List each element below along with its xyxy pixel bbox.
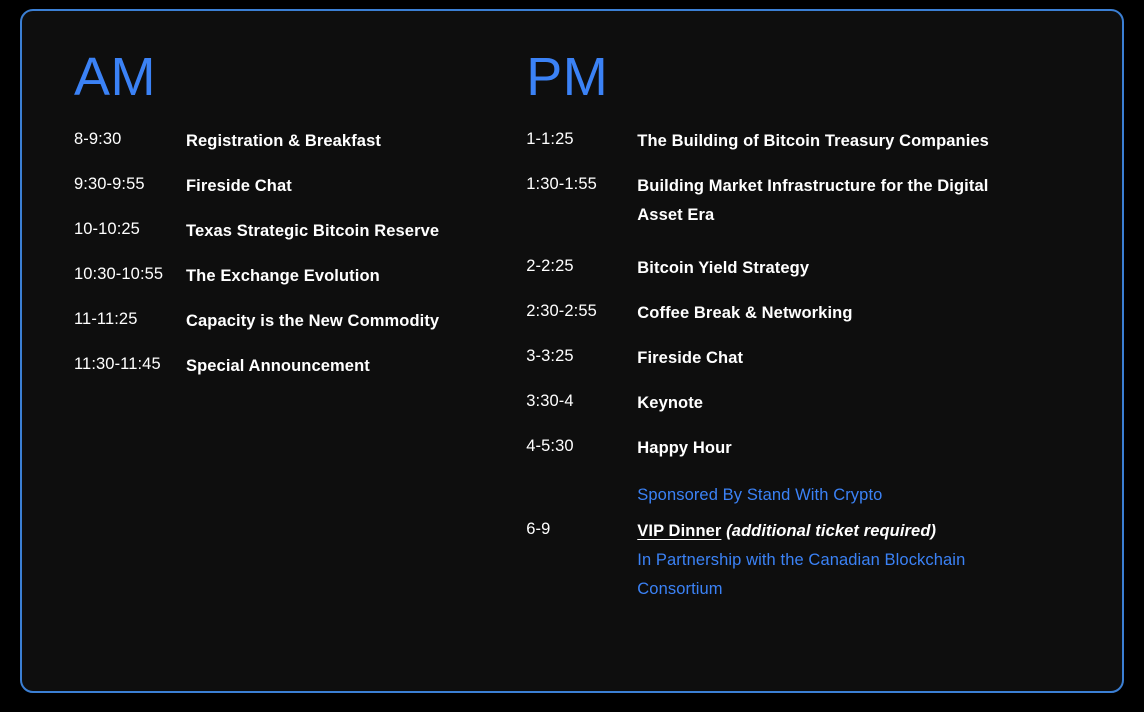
- session-time: 4-5:30: [526, 434, 637, 458]
- session-time: 1-1:25: [526, 127, 637, 151]
- session-time: 2-2:25: [526, 254, 637, 278]
- schedule-row: 8-9:30 Registration & Breakfast: [74, 127, 523, 156]
- schedule-row: 9:30-9:55 Fireside Chat: [74, 172, 523, 201]
- pm-schedule-list: 1-1:25 The Building of Bitcoin Treasury …: [526, 127, 1122, 604]
- session-title: Fireside Chat: [186, 172, 516, 201]
- session-title: Special Announcement: [186, 352, 516, 381]
- am-column: AM 8-9:30 Registration & Breakfast 9:30-…: [22, 11, 523, 691]
- session-title: The Building of Bitcoin Treasury Compani…: [637, 127, 1027, 156]
- session-time: 9:30-9:55: [74, 172, 186, 196]
- vip-dinner-qualifier: (additional ticket required): [726, 522, 936, 540]
- schedule-row: 4-5:30 Happy Hour: [526, 434, 1122, 463]
- session-time: 10-10:25: [74, 217, 186, 241]
- vip-dinner-label: VIP Dinner: [637, 522, 721, 540]
- agenda-columns: AM 8-9:30 Registration & Breakfast 9:30-…: [22, 11, 1122, 691]
- pm-column-header: PM: [526, 48, 1122, 110]
- session-time: 11-11:25: [74, 307, 186, 331]
- session-title: Texas Strategic Bitcoin Reserve: [186, 217, 516, 246]
- schedule-row: 2:30-2:55 Coffee Break & Networking: [526, 299, 1122, 328]
- vip-dinner-details: VIP Dinner (additional ticket required) …: [637, 517, 1027, 604]
- am-column-header: AM: [74, 48, 523, 110]
- vip-dinner-partner-note: In Partnership with the Canadian Blockch…: [637, 546, 1027, 604]
- schedule-row: 11-11:25 Capacity is the New Commodity: [74, 307, 523, 336]
- schedule-row: 3-3:25 Fireside Chat: [526, 344, 1122, 373]
- session-title: Bitcoin Yield Strategy: [637, 254, 1027, 283]
- session-time: 6-9: [526, 517, 637, 541]
- schedule-row: 3:30-4 Keynote: [526, 389, 1122, 418]
- schedule-row: 1:30-1:55 Building Market Infrastructure…: [526, 172, 1122, 230]
- schedule-row: 2-2:25 Bitcoin Yield Strategy: [526, 254, 1122, 283]
- session-title: Keynote: [637, 389, 1027, 418]
- session-title: Capacity is the New Commodity: [186, 307, 516, 336]
- schedule-row: 10:30-10:55 The Exchange Evolution: [74, 262, 523, 291]
- pm-column: PM 1-1:25 The Building of Bitcoin Treasu…: [523, 11, 1122, 691]
- schedule-row: 10-10:25 Texas Strategic Bitcoin Reserve: [74, 217, 523, 246]
- session-title: Coffee Break & Networking: [637, 299, 1027, 328]
- session-title: Building Market Infrastructure for the D…: [637, 172, 1027, 230]
- session-title: The Exchange Evolution: [186, 262, 516, 291]
- sponsor-note-row: Sponsored By Stand With Crypto: [526, 481, 1122, 510]
- session-time: 3:30-4: [526, 389, 637, 413]
- session-time: 10:30-10:55: [74, 262, 186, 286]
- session-title: Happy Hour: [637, 434, 1027, 463]
- session-time: 1:30-1:55: [526, 172, 637, 196]
- agenda-card: AM 8-9:30 Registration & Breakfast 9:30-…: [20, 9, 1124, 693]
- session-time: 11:30-11:45: [74, 352, 186, 376]
- am-schedule-list: 8-9:30 Registration & Breakfast 9:30-9:5…: [74, 127, 523, 381]
- schedule-row: 11:30-11:45 Special Announcement: [74, 352, 523, 381]
- sponsor-note: Sponsored By Stand With Crypto: [637, 481, 1027, 510]
- vip-dinner-row: 6-9 VIP Dinner (additional ticket requir…: [526, 517, 1122, 604]
- session-time: 8-9:30: [74, 127, 186, 151]
- session-time: 3-3:25: [526, 344, 637, 368]
- session-title: Fireside Chat: [637, 344, 1027, 373]
- schedule-row: 1-1:25 The Building of Bitcoin Treasury …: [526, 127, 1122, 156]
- session-time: 2:30-2:55: [526, 299, 637, 323]
- session-title: Registration & Breakfast: [186, 127, 516, 156]
